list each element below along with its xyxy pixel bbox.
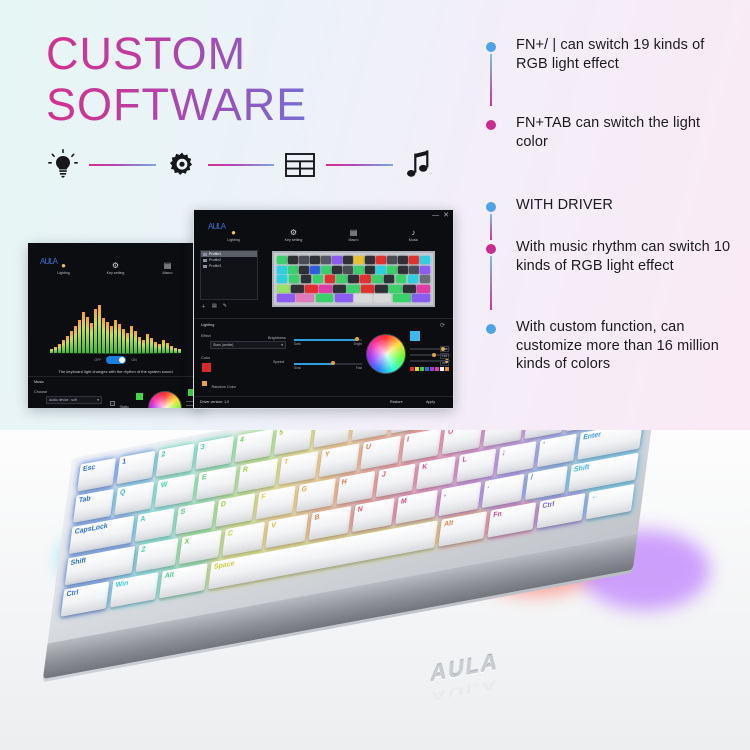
keycap: V [265,514,308,548]
music-sync-toggle-row[interactable]: OFF ON [28,356,203,364]
tab-lighting-label: Lighting [227,238,240,243]
choose-label: Choose [34,390,47,394]
keycap: Fn [487,502,536,537]
color-swatches[interactable] [410,367,449,371]
speed-max-label: Fast [356,366,362,370]
equalizer-bar [62,340,65,353]
gear-icon: ⚙ [112,261,119,270]
keycap-legend: R [242,466,248,474]
gear-icon [165,148,199,182]
keyboard-preview-row [277,256,430,264]
keycap-legend: I [406,436,409,444]
keyboard-preview-key[interactable] [420,256,430,264]
keycap-legend: V [271,522,277,530]
tab-macro[interactable]: ▤ Macro [339,228,369,243]
rgb-value-r: 255 [440,346,449,352]
connector-line-2 [208,164,275,166]
lighting-icon: ● [231,228,236,237]
music-note-icon [402,148,436,182]
keyboard-preview-key[interactable] [376,266,386,274]
keycap: W [155,474,196,508]
keycap: G [296,478,336,512]
keyboard-preview-key[interactable] [409,256,419,264]
rgb-value-boxes[interactable]: 255 120 200 [440,346,449,366]
keycap: X [179,530,222,564]
keyboard-preview-key[interactable] [291,285,304,293]
profile-actions[interactable]: ＋ ▤ ✎ [201,303,227,310]
equalizer-bar [134,331,137,353]
tab-key-setting-label: Key setting [107,271,125,276]
keyboard-preview-key[interactable] [347,285,360,293]
refresh-icon[interactable]: ⟳ [440,322,445,329]
keycap: Q [114,481,155,515]
equalizer-bar [142,340,145,353]
keyboard-preview-row [277,275,430,283]
keycap-legend: E [201,474,207,482]
music-color-chip[interactable] [136,393,143,400]
keyboard-preview-key[interactable] [384,275,394,283]
brightness-slider-wrap[interactable]: Dark Bright [294,336,362,343]
keycap-legend: ' [542,442,545,450]
keyboard-preview-key[interactable] [408,275,418,283]
keyboard-preview-key[interactable] [412,294,430,302]
keycap-legend: / [530,474,533,482]
keycap-legend: L [462,456,467,464]
close-icon[interactable]: ✕ [443,212,449,220]
chevron-down-icon: ▾ [97,398,99,402]
keyboard-preview-key[interactable] [420,266,430,274]
keyboard-preview-key[interactable] [299,266,309,274]
list-item-label: FN+/ | can switch 19 kinds of RGB light … [516,36,736,73]
keycap-legend: X [184,538,190,546]
list-item: With music rhythm can switch 10 kinds of… [486,238,736,318]
keyboard-preview-key[interactable] [288,266,298,274]
profile-label: Profile1 [209,252,221,256]
color-swatch[interactable] [435,367,439,371]
connector-line-3 [326,164,393,166]
random-color-checkbox[interactable] [202,381,207,386]
keycap: F [255,486,295,520]
bullet-connector [490,214,492,240]
music-icon: ♪ [412,228,416,237]
music-sync-toggle[interactable] [106,356,126,364]
keycap-legend: S [180,508,186,516]
keyboard-preview-key[interactable] [305,285,318,293]
bullet-connector [490,54,492,106]
tab-music[interactable]: ♪ Music [399,228,429,243]
keyboard-preview-key[interactable] [417,285,430,293]
keyboard-preview-key[interactable] [372,275,382,283]
keycap: J [376,463,416,497]
color-label: Color [201,356,210,360]
keycap-legend: ; [502,449,505,457]
keycap: ; [497,441,537,475]
list-item-label: With custom function, can customize more… [516,318,736,374]
keyboard-preview-key[interactable] [398,266,408,274]
equalizer-bar [102,318,105,353]
keyboard-preview-key[interactable] [409,266,419,274]
keyboard-preview-key[interactable] [396,275,406,283]
equalizer-bar [166,343,169,353]
keyboard-preview-key[interactable] [387,266,397,274]
brightness-slider[interactable]: Dark Bright [294,336,362,343]
keycap: . [482,474,525,508]
keyboard-preview-key[interactable] [277,256,287,264]
keycap: 1 [116,451,155,485]
keycap-legend: U [365,443,371,451]
keycap-legend: Space [213,560,234,571]
keycap: ← [586,484,635,519]
color-wheel[interactable] [366,334,406,374]
tab-music-label: Music [409,238,418,243]
equalizer-bar [138,337,141,353]
divider [194,396,453,397]
keycap: T [278,451,319,485]
equalizer-bar [86,317,89,353]
keycap-legend: N [357,506,363,514]
keycap-legend: 1 [122,458,127,466]
add-profile-icon[interactable]: ＋ [201,303,206,310]
color-swatch[interactable] [440,367,444,371]
apply-button[interactable]: Apply [426,400,435,404]
profile-list[interactable]: Profile1 Profile2 Profile3 [200,250,258,300]
color-swatch[interactable] [420,367,424,371]
keycap: Esc [77,458,116,492]
list-item: FN+/ | can switch 19 kinds of RGB light … [486,36,736,114]
equalizer-bar [110,326,113,353]
equalizer-bar [146,334,149,353]
tab-key-setting[interactable]: ⚙ Key setting [101,261,131,276]
keycap: / [525,466,568,500]
equalizer-bar [170,346,173,353]
selected-color-chip[interactable] [410,331,420,341]
keycap: A [135,508,175,542]
keycap-legend: , [444,490,447,498]
keycap-legend: W [160,481,167,490]
keyboard-preview-row [277,294,430,302]
keyboard-preview-key[interactable] [374,294,392,302]
table-icon [283,148,317,182]
keyboard-preview-key[interactable] [296,294,314,302]
keyboard-preview-key[interactable] [393,294,411,302]
keycap: I [401,430,442,462]
equalizer-bar [82,312,85,353]
keycap-legend: Esc [82,464,95,474]
keycap-legend: J [381,471,386,479]
minimize-icon[interactable]: — [432,212,439,220]
chevron-down-icon: ▾ [281,343,283,347]
keyboard-preview-key[interactable] [332,266,342,274]
tab-macro-label: Macro [163,271,173,276]
keycap: Alt [159,563,208,598]
keycap: U [360,436,401,470]
equalizer-bar [162,340,165,353]
keyboard-preview-key[interactable] [321,256,331,264]
feature-bullet-list: FN+/ | can switch 19 kinds of RGB light … [486,36,736,374]
keycap-legend: . [487,482,490,490]
bullet-dot [486,202,496,212]
brightness-label: Brightness [268,336,286,340]
keyboard-preview-key[interactable] [387,256,397,264]
equalizer-bar [58,344,61,353]
keycap: S [175,501,215,535]
music-window-titlebar [28,243,203,255]
keycap: Ctrl [61,581,110,616]
page-title: CUSTOM SOFTWARE [46,28,466,130]
keyboard-preview-key[interactable] [321,266,331,274]
aula-brand-logo: AULA [208,222,225,231]
rgb-value-g: 120 [440,353,449,359]
profile-label: Profile2 [209,258,221,262]
color-swatch[interactable] [415,367,419,371]
audio-device-value: Audio device : soft [49,398,77,402]
effect-select[interactable]: Stars (amble) ▾ [210,341,286,349]
keyboard-preview-key[interactable] [354,294,372,302]
keycap: Win [110,572,159,607]
keycap-legend: Win [115,580,129,590]
music-software-window[interactable]: AULA ● Lighting ⚙ Key setting ▤ Macro OF… [28,243,203,408]
equalizer-bar [154,342,157,353]
radio-normal[interactable]: Normal [110,404,132,408]
keycap-legend: 5 [279,430,284,437]
keycap: Tab [73,489,114,523]
mechanical-keyboard: Esc1234567890-=BkspTabQWERTYUIOP[]\CapsL… [42,430,661,682]
keycap-legend: H [341,478,347,486]
color-swatch[interactable] [445,367,449,371]
keyboard-preview-key[interactable] [403,285,416,293]
keycap-legend: Ctrl [542,501,555,510]
bullet-connector [490,256,492,310]
keycap-legend: D [220,501,226,509]
equalizer-caption: The keyboard light changes with the rhyt… [28,369,203,374]
profile-label: Profile3 [209,264,221,268]
divider [194,318,453,319]
keycap-legend: A [140,516,146,524]
keyboard-preview-key[interactable] [277,294,295,302]
keycap: D [215,493,255,527]
keycap: Z [136,538,179,572]
equalizer-baseline [50,353,185,354]
keyboard-preview-key[interactable] [289,275,299,283]
equalizer-bar [106,322,109,353]
equalizer-bar [118,324,121,353]
keycap: R [237,459,278,493]
color-swatch[interactable] [425,367,429,371]
list-item: With custom function, can customize more… [486,318,736,374]
keyboard-preview-key[interactable] [420,275,430,283]
keycap: M [395,490,438,524]
keycap-legend: Shift [70,557,86,567]
equalizer-bar [130,326,133,353]
delete-profile-icon[interactable]: ▤ [212,303,217,310]
keyboard-preview-key[interactable] [398,256,408,264]
gear-icon: ⚙ [290,228,297,237]
random-color-checkbox-row[interactable]: Random Color [202,375,236,393]
equalizer-bar [70,331,73,353]
equalizer-bar [114,320,117,353]
aula-brand-logo: AULA [40,257,57,266]
keycap-legend: 2 [161,451,166,459]
tab-macro-label: Macro [349,238,359,243]
keyboard-preview-key[interactable] [299,256,309,264]
keycap-legend: F [261,493,266,501]
lighting-section-title: Lighting [201,323,214,327]
equalizer-bar [158,344,161,353]
keycap: B [309,506,352,540]
keyboard-preview-key[interactable] [389,285,402,293]
toggle-on-label: ON [131,358,136,362]
keycap: E [196,466,237,500]
keyboard-preview-key[interactable] [316,294,334,302]
keycap-legend: Tab [78,495,91,504]
color-swatch[interactable] [410,367,414,371]
keyboard-preview-key[interactable] [354,266,364,274]
driver-window-titlebar: — ✕ [194,210,453,224]
color-wheel[interactable] [148,391,182,408]
toggle-off-label: OFF [94,358,101,362]
list-item: WITH DRIVER [486,196,736,238]
keyboard-preview-key[interactable] [277,275,287,283]
keycap-legend: G [301,486,307,494]
feature-icon-row [46,142,436,188]
driver-version-status: Driver version: 1.0 [200,400,229,404]
keycap-legend: Shift [574,464,590,474]
keycap: , [438,482,481,516]
bullet-dot [486,42,496,52]
keyboard-preview-key[interactable] [310,266,320,274]
speed-slider-wrap[interactable]: Slow Fast [294,360,362,367]
driver-window-toolbar[interactable]: ● Lighting ⚙ Key setting ▤ Macro ♪ Music [194,224,453,246]
speed-min-label: Slow [294,366,301,370]
keycap-legend: Alt [164,571,174,580]
keycap: Alt [438,511,487,546]
window-controls[interactable]: — ✕ [432,212,449,220]
keyboard-preview-key[interactable] [336,275,346,283]
tab-macro[interactable]: ▤ Macro [153,261,183,276]
keycap-legend: Alt [444,519,454,528]
equalizer-bar [122,329,125,353]
equalizer-bar [66,336,69,353]
equalizer-bar [94,309,97,353]
keyboard-preview-key[interactable] [277,285,290,293]
brightness-max-label: Bright [354,342,362,346]
keycap: Ctrl [537,493,586,528]
keyboard-preview-key[interactable] [319,285,332,293]
tab-key-setting-label: Key setting [285,238,303,243]
color-swatch[interactable] [430,367,434,371]
tab-key-setting[interactable]: ⚙ Key setting [279,228,309,243]
restore-button[interactable]: Restore [390,400,403,404]
keyboard-preview-key[interactable] [301,275,311,283]
keyboard-preview-key[interactable] [343,266,353,274]
keyboard-preview-key[interactable] [375,285,388,293]
lightbulb-icon [46,148,80,182]
list-item: FN+TAB can switch the light color [486,114,736,196]
keycap: H [336,471,376,505]
current-color-chip[interactable] [202,363,211,372]
keycap: O [442,430,483,454]
keycap-legend: M [400,498,407,506]
effect-value: Stars (amble) [213,343,233,347]
keycap-legend: Fn [493,511,502,520]
keyboard-preview-key[interactable] [310,256,320,264]
keycap: 5 [273,430,312,455]
equalizer-bar [126,333,129,353]
edit-profile-icon[interactable]: ✎ [223,303,227,310]
keyboard-preview-key[interactable] [325,275,335,283]
keyboard-preview-key[interactable] [277,266,287,274]
keycap: 3 [195,436,234,470]
keyboard-preview-key[interactable] [313,275,323,283]
keyboard-preview-key[interactable] [376,256,386,264]
equalizer-bar [90,323,93,353]
keyboard-preview-key[interactable] [365,266,375,274]
keycap-legend: Enter [583,431,602,442]
rgb-value-b: 200 [440,360,449,366]
brightness-min-label: Dark [294,342,301,346]
keyboard-preview-key[interactable] [332,256,342,264]
keycap-legend: K [422,463,428,471]
keycap: Y [319,443,360,477]
audio-device-select[interactable]: Audio device : soft ▾ [46,396,102,404]
keycap-legend: Y [324,451,330,459]
bullet-dot [486,324,496,334]
list-item-label: FN+TAB can switch the light color [516,114,736,151]
speed-slider[interactable]: Slow Fast [294,360,362,367]
keyboard-preview-key[interactable] [343,256,353,264]
product-photo: Esc1234567890-=BkspTabQWERTYUIOP[]\CapsL… [0,430,750,750]
keyboard-preview-key[interactable] [360,275,370,283]
speed-label: Speed [273,360,284,364]
keycap-legend: CapsLock [74,523,108,536]
keycap-legend: Q [119,489,125,497]
tab-lighting-label: Lighting [57,271,70,276]
keycap-legend: Z [141,546,146,554]
keyboard-preview-row [277,285,430,293]
equalizer-bar [74,326,77,353]
keyboard-preview-key[interactable] [365,256,375,264]
keycap: L [457,448,497,482]
keyboard-preview-key[interactable] [335,294,353,302]
effect-label: Effect [201,334,211,338]
keycap: N [352,498,395,532]
audio-equalizer [28,301,203,353]
keycap-legend: Ctrl [66,589,79,598]
keycap-legend: C [227,530,233,538]
bullet-dot [486,244,496,254]
keyboard-preview-key[interactable] [288,256,298,264]
keycap-legend: 4 [239,436,244,444]
list-item-label: With music rhythm can switch 10 kinds of… [516,238,736,275]
keycap: K [416,456,456,490]
keyboard-layout-preview[interactable] [272,251,435,307]
divider [28,376,203,377]
lighting-icon: ● [61,261,66,270]
keyboard-preview-key[interactable] [361,285,374,293]
list-item[interactable]: Profile3 [201,263,257,269]
equalizer-bar [150,338,153,353]
keyboard-preview-key[interactable] [348,275,358,283]
macro-icon: ▤ [164,261,172,270]
keycap-legend: O [448,430,454,436]
keycap-legend: T [283,459,288,467]
keycap-legend: ← [591,493,599,502]
keyboard-preview-key[interactable] [354,256,364,264]
driver-software-window[interactable]: — ✕ AULA ● Lighting ⚙ Key setting ▤ Macr… [193,209,454,409]
keyboard-preview-row [277,266,430,274]
keyboard-preview-key[interactable] [333,285,346,293]
keycap: C [222,522,265,556]
